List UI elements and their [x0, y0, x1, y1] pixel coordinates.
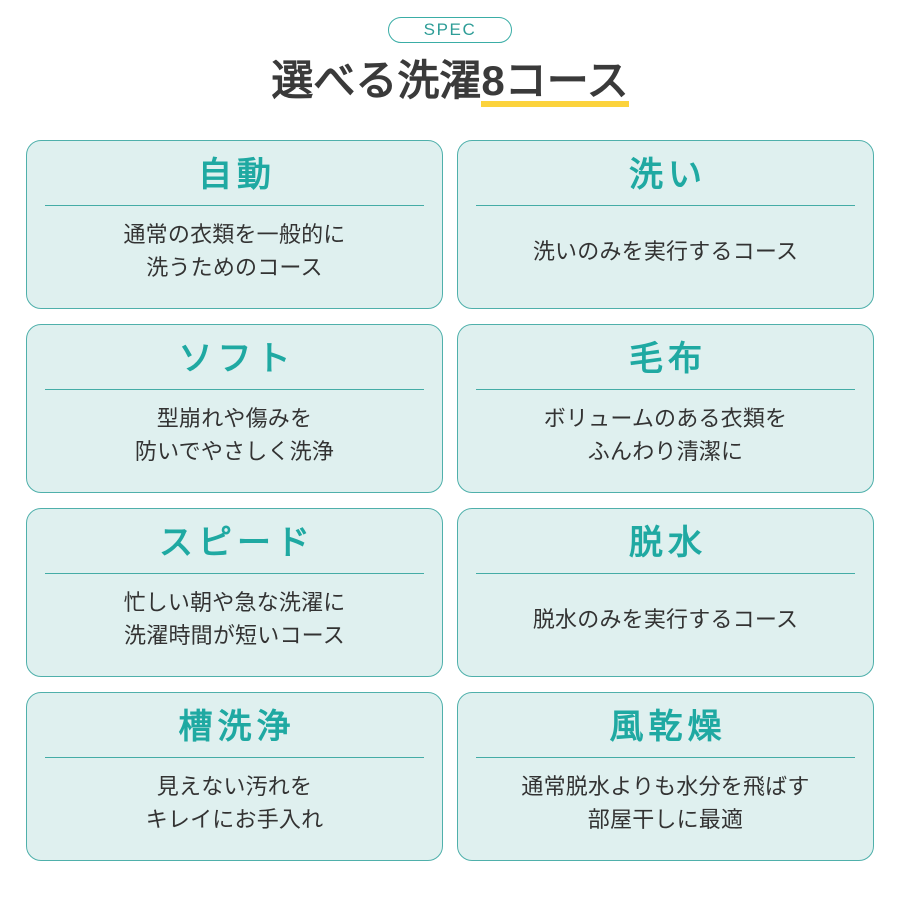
course-title: 毛布 — [476, 335, 855, 383]
course-card-moufu: 毛布 ボリュームのある衣類を ふんわり清潔に — [457, 324, 874, 493]
course-card-dassui: 脱水 脱水のみを実行するコース — [457, 508, 874, 677]
course-title: 自動 — [45, 151, 424, 199]
course-description-line: 防いでやさしく洗浄 — [135, 435, 334, 468]
page-title-plain: 選べる洗濯 — [271, 57, 481, 104]
course-description-line: 忙しい朝や急な洗濯に — [123, 586, 345, 619]
course-card-jidou: 自動 通常の衣類を一般的に 洗うためのコース — [26, 140, 443, 309]
page-title-highlight: 8コース — [481, 57, 628, 107]
course-description-line: 洗濯時間が短いコース — [124, 619, 345, 652]
course-description: 型崩れや傷みを 防いでやさしく洗浄 — [45, 390, 424, 480]
course-title: 風乾燥 — [476, 703, 855, 751]
course-description: 通常の衣類を一般的に 洗うためのコース — [45, 206, 424, 296]
course-description-line: 通常の衣類を一般的に — [123, 218, 345, 251]
spec-badge: SPEC — [388, 17, 512, 43]
course-title: 洗い — [476, 151, 855, 199]
page-title: 選べる洗濯8コース — [0, 57, 900, 107]
course-description-line: 洗うためのコース — [146, 251, 323, 284]
course-title: 脱水 — [476, 519, 855, 567]
course-title: 槽洗浄 — [45, 703, 424, 751]
course-description-line: 脱水のみを実行するコース — [533, 603, 798, 636]
course-description: ボリュームのある衣類を ふんわり清潔に — [476, 390, 855, 480]
course-title: ソフト — [45, 335, 424, 383]
spec-infographic: SPEC 選べる洗濯8コース 自動 通常の衣類を一般的に 洗うためのコース 洗い… — [0, 0, 900, 900]
course-description-line: 型崩れや傷みを — [157, 402, 312, 435]
course-card-speed: スピード 忙しい朝や急な洗濯に 洗濯時間が短いコース — [26, 508, 443, 677]
course-card-sousenjou: 槽洗浄 見えない汚れを キレイにお手入れ — [26, 692, 443, 861]
course-description-line: ふんわり清潔に — [588, 435, 743, 468]
course-description-line: 通常脱水よりも水分を飛ばす — [521, 770, 809, 803]
course-description: 洗いのみを実行するコース — [476, 206, 855, 296]
course-description-line: キレイにお手入れ — [146, 803, 324, 836]
header: SPEC 選べる洗濯8コース — [0, 0, 900, 107]
course-description-line: 見えない汚れを — [157, 770, 312, 803]
course-card-kazekansou: 風乾燥 通常脱水よりも水分を飛ばす 部屋干しに最適 — [457, 692, 874, 861]
course-description-line: 部屋干しに最適 — [588, 803, 743, 836]
course-description: 通常脱水よりも水分を飛ばす 部屋干しに最適 — [476, 758, 855, 848]
course-description-line: ボリュームのある衣類を — [544, 402, 788, 435]
course-card-soft: ソフト 型崩れや傷みを 防いでやさしく洗浄 — [26, 324, 443, 493]
course-description: 見えない汚れを キレイにお手入れ — [45, 758, 424, 848]
course-grid: 自動 通常の衣類を一般的に 洗うためのコース 洗い 洗いのみを実行するコース ソ… — [26, 140, 874, 861]
course-description: 脱水のみを実行するコース — [476, 574, 855, 664]
course-card-arai: 洗い 洗いのみを実行するコース — [457, 140, 874, 309]
course-description: 忙しい朝や急な洗濯に 洗濯時間が短いコース — [45, 574, 424, 664]
course-description-line: 洗いのみを実行するコース — [533, 235, 798, 268]
course-title: スピード — [45, 519, 424, 567]
